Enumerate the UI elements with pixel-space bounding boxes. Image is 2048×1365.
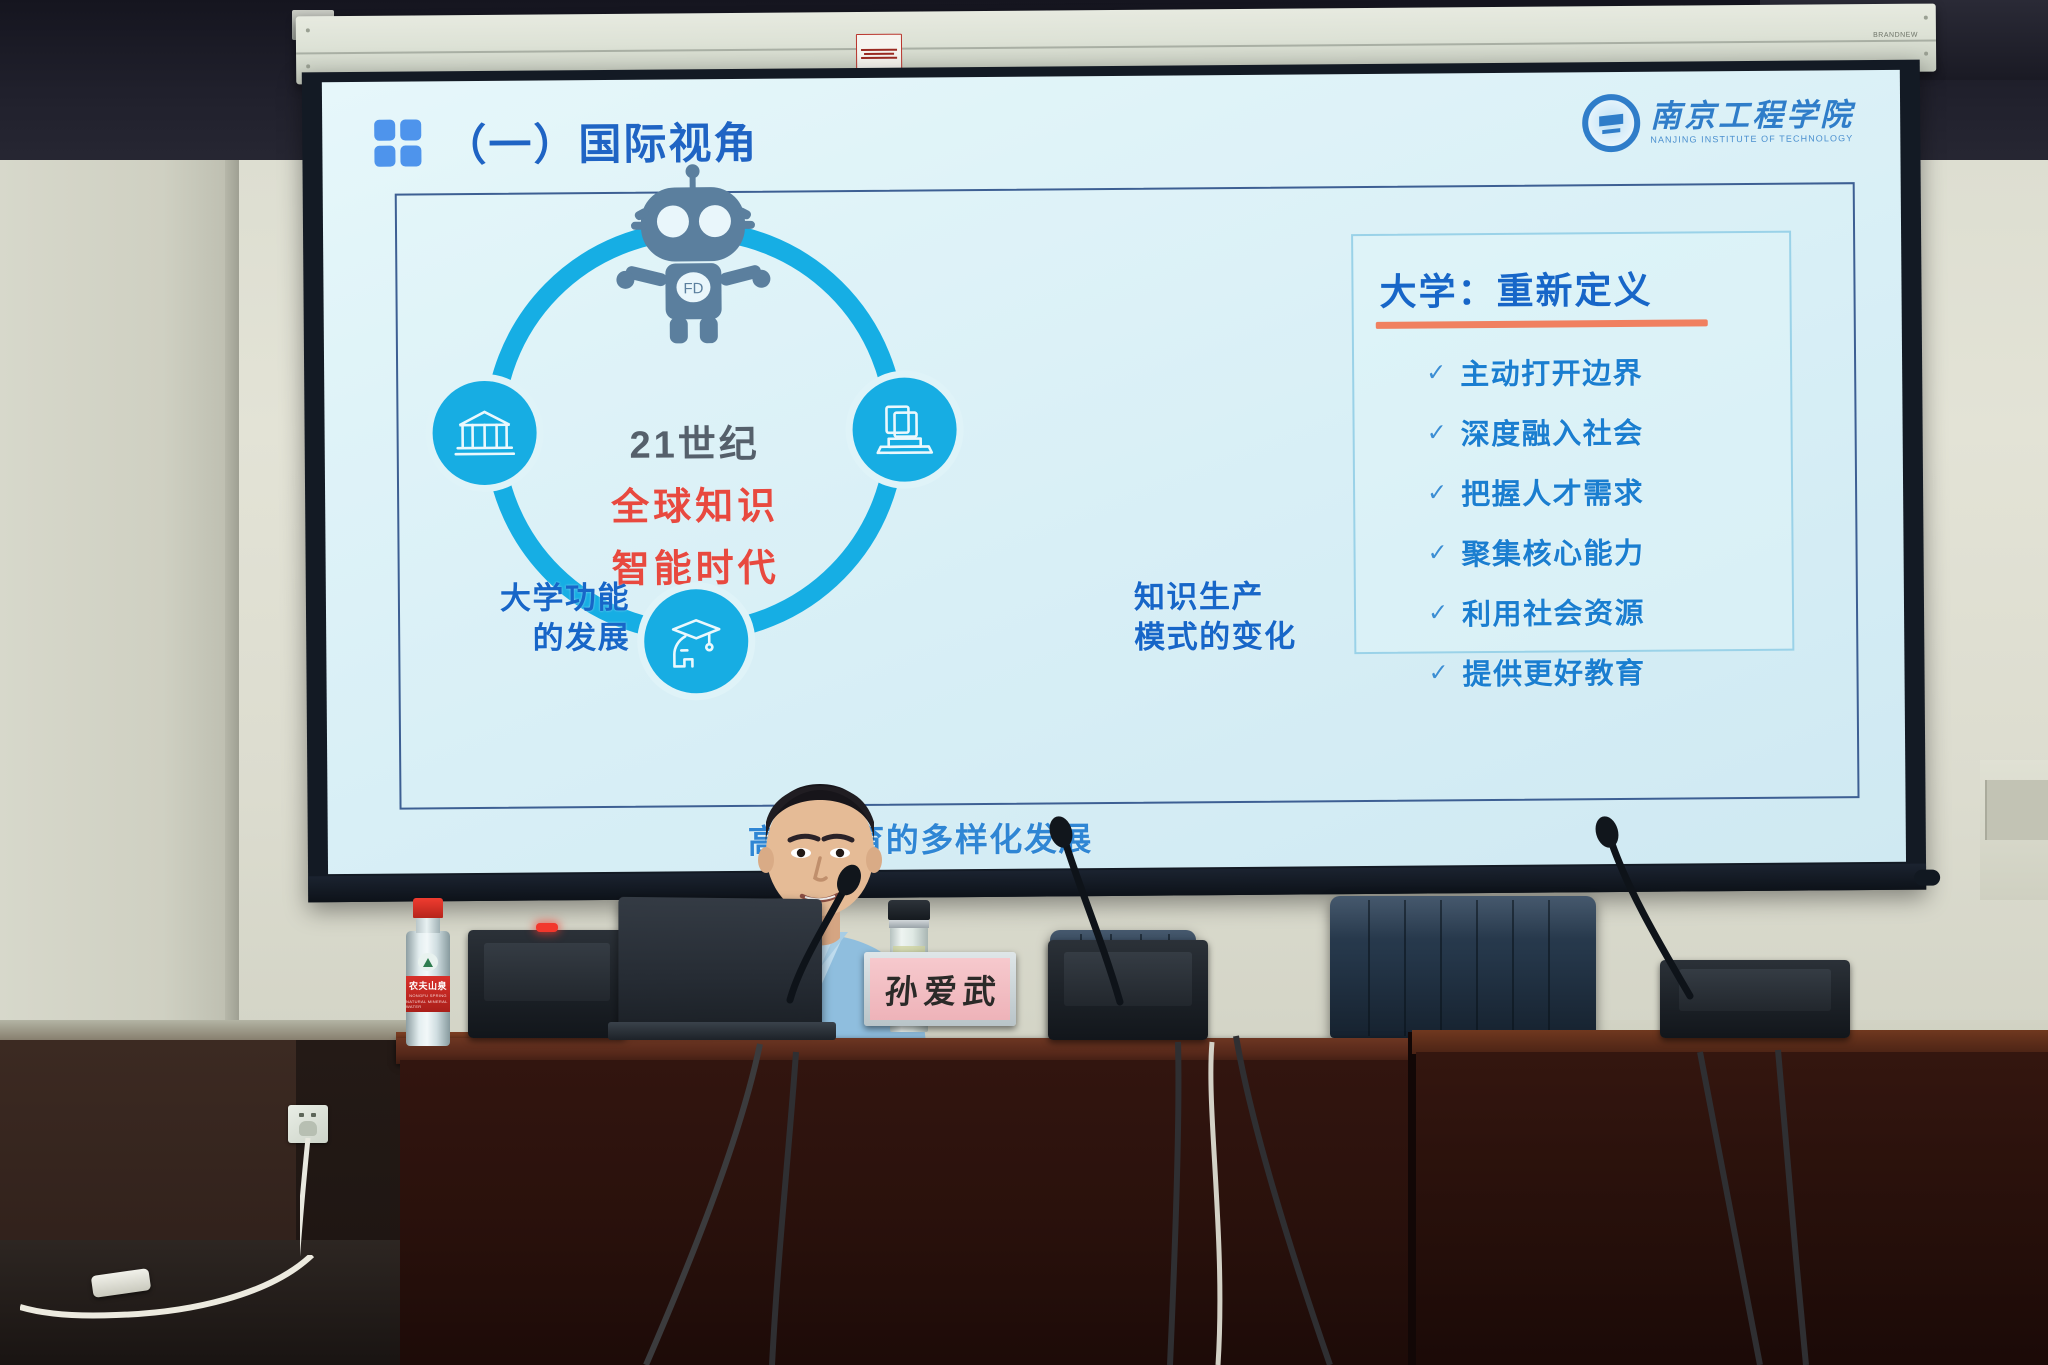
robot-icon: FD	[604, 159, 781, 350]
list-item: ✓ 把握人才需求	[1427, 470, 1644, 514]
laptop[interactable]	[618, 897, 822, 1031]
graduation-cap-circle-icon	[1582, 94, 1640, 152]
redefine-card: 大学：重新定义 ✓ 主动打开边界 ✓ 深度融入社会 ✓ 把	[1351, 231, 1794, 654]
label-right: 知识生产 模式的变化	[1134, 577, 1297, 658]
outlet-slot-left	[299, 1113, 304, 1117]
node-left[interactable]	[432, 381, 537, 486]
label-left-line1: 大学功能	[500, 578, 630, 619]
list-item: ✓ 利用社会资源	[1428, 590, 1645, 634]
label-left-line2: 的发展	[500, 617, 630, 658]
microphone-display	[484, 943, 610, 1001]
left-wall-panel	[0, 160, 232, 1060]
four-squares-icon	[374, 119, 421, 166]
label-right-line2: 模式的变化	[1134, 616, 1297, 657]
screen-bar-endcap	[1914, 870, 1940, 886]
projection-screen: （一）国际视角 南京工程学院 NANJING INSTITUTE OF TECH…	[302, 60, 1926, 903]
redefine-card-list: ✓ 主动打开边界 ✓ 深度融入社会 ✓ 把握人才需求 ✓	[1426, 350, 1646, 712]
bottle-sub-en: NATURAL MINERAL WATER	[406, 999, 450, 1009]
nameplate-inner: 孙 爱 武	[870, 958, 1010, 1020]
tumbler-ring	[889, 919, 929, 928]
list-item: ✓ 聚集核心能力	[1427, 530, 1644, 574]
cycle-diagram: FD 21世纪 全球知识 智能时代	[483, 220, 906, 643]
check-icon: ✓	[1426, 358, 1446, 387]
bottle-cap[interactable]	[413, 898, 443, 918]
university-logo: 南京工程学院 NANJING INSTITUTE OF TECHNOLOGY	[1582, 92, 1854, 152]
redefine-card-rule	[1376, 319, 1708, 329]
right-door-edge	[1985, 780, 2048, 840]
list-item-label: 主动打开边界	[1460, 350, 1643, 393]
tumbler-lid[interactable]	[888, 900, 930, 920]
list-item: ✓ 深度融入社会	[1426, 410, 1643, 454]
outlet-slot-right	[311, 1113, 316, 1117]
bottle-label: 农夫山泉 NONGFU SPRING NATURAL MINERAL WATER	[406, 976, 450, 1012]
bank-building-icon	[453, 407, 515, 459]
desk-seam	[1408, 1032, 1416, 1365]
list-item-label: 提供更好教育	[1462, 650, 1645, 693]
bottle-neck	[416, 917, 440, 933]
node-bottom[interactable]	[644, 589, 749, 694]
slide: （一）国际视角 南京工程学院 NANJING INSTITUTE OF TECH…	[322, 70, 1906, 874]
nameplate: 孙 爱 武	[864, 952, 1016, 1026]
desk-front-panel	[400, 1060, 1414, 1365]
nameplate-char-1: 孙	[883, 965, 919, 1013]
list-item-label: 深度融入社会	[1460, 410, 1643, 453]
svg-text:FD: FD	[683, 280, 703, 297]
conference-microphone-left[interactable]	[468, 930, 626, 1038]
redefine-card-title: 大学：重新定义	[1379, 260, 1652, 316]
bottle-brand-en: NONGFU SPRING	[409, 993, 447, 998]
list-item-label: 把握人才需求	[1461, 470, 1644, 513]
check-icon: ✓	[1427, 418, 1447, 447]
microphone-display	[1064, 952, 1192, 1006]
housing-screw	[1924, 52, 1928, 56]
housing-brand-text: BRANDNEW	[1873, 32, 1918, 39]
lecture-hall-scene: BRANDNEW （一）国际视角 南京工程学院	[0, 0, 2048, 1365]
chair-right[interactable]	[1330, 896, 1596, 1038]
center-line-1: 全球知识	[530, 474, 860, 532]
microphone-display	[1679, 969, 1831, 1011]
university-name-cn: 南京工程学院	[1650, 99, 1854, 132]
bottle-brand-cn: 农夫山泉	[409, 979, 447, 992]
projection-surface: （一）国际视角 南京工程学院 NANJING INSTITUTE OF TECH…	[322, 70, 1906, 874]
check-icon: ✓	[1428, 598, 1448, 627]
check-icon: ✓	[1428, 658, 1448, 687]
graduate-head-icon	[665, 614, 727, 668]
housing-screw	[306, 64, 310, 68]
university-name-en: NANJING INSTITUTE OF TECHNOLOGY	[1650, 134, 1854, 145]
laptop-books-icon	[874, 402, 934, 456]
list-item-label: 聚集核心能力	[1461, 530, 1644, 573]
label-right-line1: 知识生产	[1134, 577, 1297, 618]
outlet-round-socket	[299, 1121, 317, 1136]
university-logo-text: 南京工程学院 NANJING INSTITUTE OF TECHNOLOGY	[1650, 99, 1854, 145]
bottle-mountain-logo-icon	[418, 953, 438, 971]
conference-microphone-center[interactable]	[1048, 940, 1208, 1040]
housing-screw	[306, 28, 310, 32]
housing-screw	[1924, 16, 1928, 20]
water-bottle[interactable]: 农夫山泉 NONGFU SPRING NATURAL MINERAL WATER	[404, 898, 452, 1046]
list-item: ✓ 提供更好教育	[1428, 650, 1645, 694]
conference-microphone-right[interactable]	[1660, 960, 1850, 1038]
list-item: ✓ 主动打开边界	[1426, 350, 1643, 394]
check-icon: ✓	[1427, 478, 1447, 507]
check-icon: ✓	[1427, 538, 1447, 567]
nameplate-char-3: 武	[961, 965, 997, 1013]
list-item-label: 利用社会资源	[1462, 590, 1645, 633]
floor-cable	[20, 1255, 340, 1345]
diagram-center-text: 21世纪 全球知识 智能时代	[529, 412, 860, 594]
microphone-led-indicator	[536, 923, 558, 932]
century-label: 21世纪	[529, 412, 859, 470]
housing-seam	[296, 40, 1936, 55]
node-right[interactable]	[852, 377, 957, 482]
label-left: 大学功能 的发展	[500, 578, 631, 658]
nameplate-char-2: 爱	[922, 965, 958, 1013]
desk-front-panel-right	[1416, 1052, 2048, 1365]
left-wall-trim	[225, 160, 239, 1060]
laptop-base[interactable]	[608, 1022, 836, 1040]
